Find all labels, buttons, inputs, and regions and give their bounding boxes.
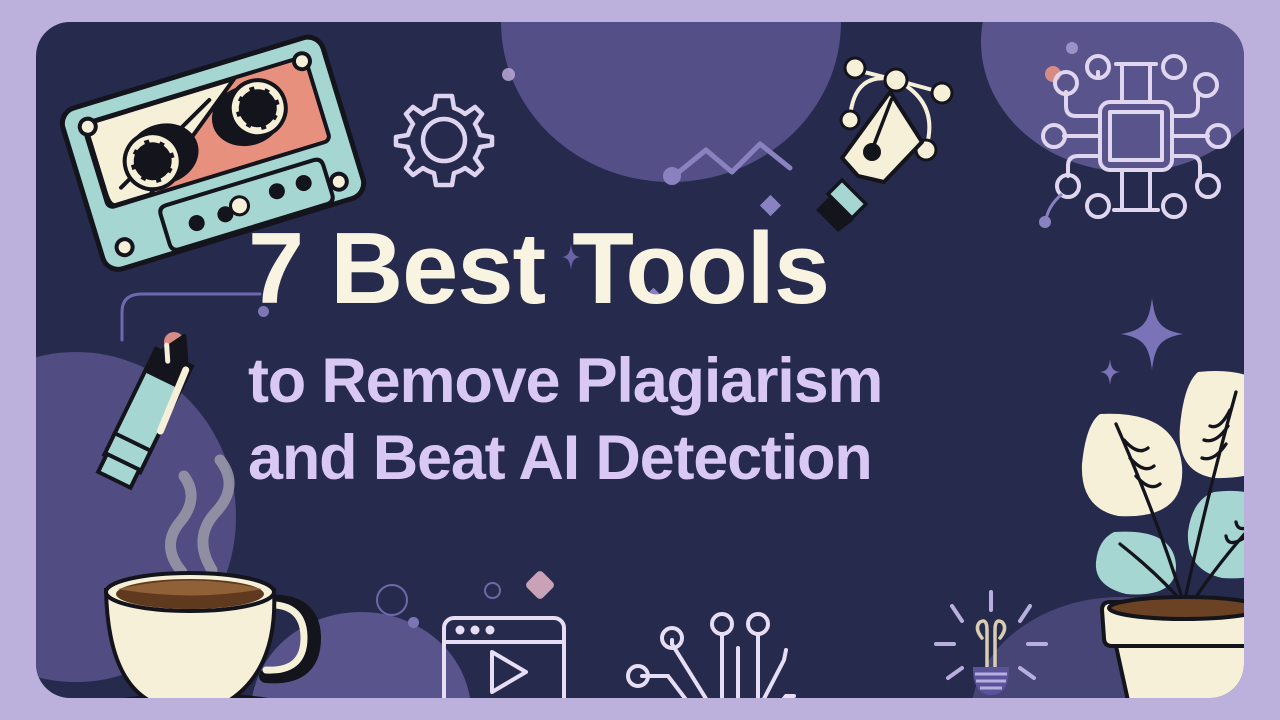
subtitle-line-1: to Remove Plagiarism <box>248 343 1088 420</box>
page-title: 7 Best Tools <box>248 218 1088 321</box>
page-subtitle: to Remove Plagiarism and Beat AI Detecti… <box>248 343 1088 497</box>
poster-card: 7 Best Tools to Remove Plagiarism and Be… <box>36 22 1244 698</box>
browser-play-icon <box>440 614 568 698</box>
gear-icon <box>394 90 494 190</box>
circuit-tree-icon <box>628 604 798 698</box>
decor-dot-salmon-2 <box>502 68 515 81</box>
pen-nib-icon <box>814 46 979 221</box>
decor-ring-2 <box>484 582 501 599</box>
lightbulb-icon <box>930 590 1052 698</box>
subtitle-line-2: and Beat AI Detection <box>248 420 1088 497</box>
decor-ring-1 <box>376 584 408 616</box>
headline-block: 7 Best Tools to Remove Plagiarism and Be… <box>248 218 1088 497</box>
zigzag-line-icon <box>660 136 800 186</box>
decor-dot-purple-3 <box>408 617 419 628</box>
poster-canvas: 7 Best Tools to Remove Plagiarism and Be… <box>0 0 1280 720</box>
decor-diamond-pink <box>524 569 555 600</box>
cpu-chip-icon <box>1036 52 1236 222</box>
